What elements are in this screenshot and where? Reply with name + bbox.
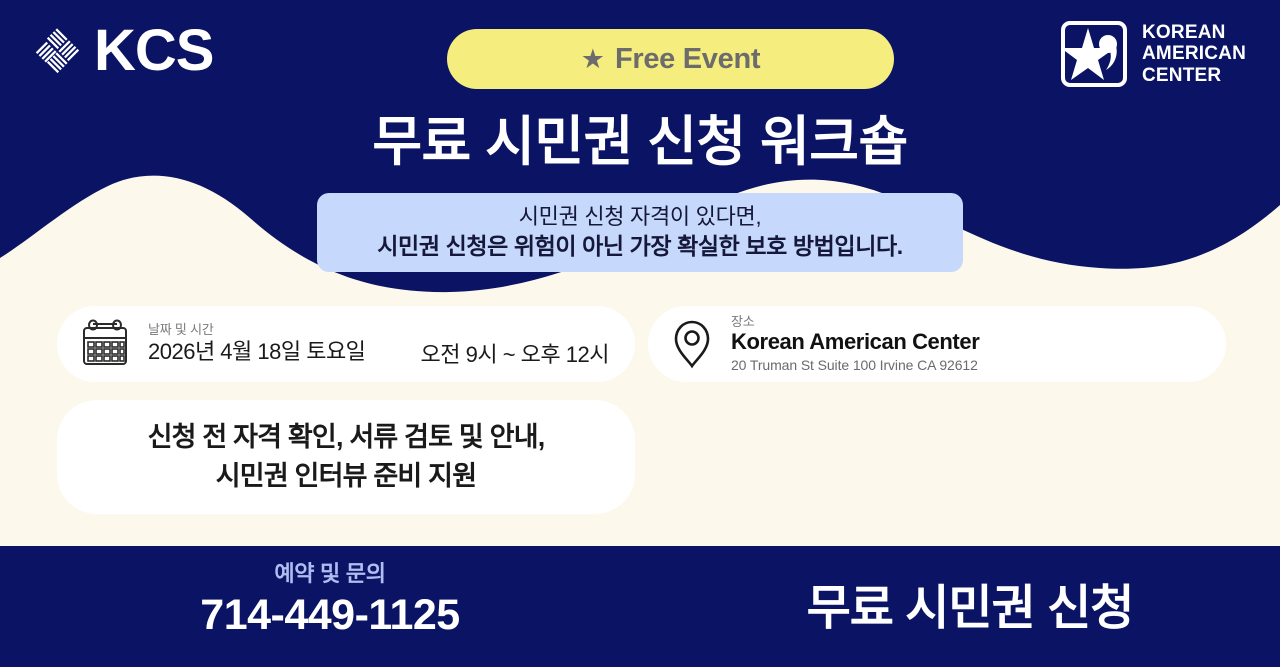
- time-value: 오전 9시 ~ 오후 12시: [421, 337, 609, 382]
- subtitle-line-1: 시민권 신청 자격이 있다면,: [519, 203, 762, 232]
- woven-diamond-icon: [34, 28, 80, 74]
- free-event-badge[interactable]: ★ Free Event: [447, 29, 894, 89]
- location-text: 장소 Korean American Center 20 Truman St S…: [731, 314, 979, 375]
- flyer-canvas: KCS ★ Free Event KOREAN AMERICAN CENTER …: [0, 0, 1280, 667]
- location-card: 장소 Korean American Center 20 Truman St S…: [648, 306, 1226, 382]
- footer-cta-block: 무료 시민권 신청: [660, 546, 1280, 667]
- kac-line-2: AMERICAN: [1142, 43, 1246, 64]
- date-value: 2026년 4월 18일 토요일: [148, 338, 365, 366]
- star-swoosh-icon: [1058, 18, 1130, 90]
- date-time-card: 날짜 및 시간 2026년 4월 18일 토요일 오전 9시 ~ 오후 12시: [57, 306, 635, 382]
- footer-contact-label: 예약 및 문의: [0, 560, 660, 589]
- footer: 예약 및 문의 714-449-1125 무료 시민권 신청: [0, 546, 1280, 667]
- services-card: 신청 전 자격 확인, 서류 검토 및 안내, 시민권 인터뷰 준비 지원: [57, 400, 635, 514]
- date-time-label: 날짜 및 시간: [148, 322, 365, 338]
- kac-line-1: KOREAN: [1142, 22, 1246, 43]
- location-label: 장소: [731, 314, 979, 330]
- map-pin-icon: [668, 318, 716, 370]
- free-event-label: Free Event: [615, 43, 760, 76]
- page-title: 무료 시민권 신청 워크숍: [0, 112, 1280, 172]
- kcs-wordmark: KCS: [94, 22, 213, 80]
- footer-contact-block: 예약 및 문의 714-449-1125: [0, 546, 660, 667]
- calendar-icon: [79, 318, 131, 370]
- korean-american-center-logo: KOREAN AMERICAN CENTER: [1058, 18, 1246, 90]
- kcs-logo: KCS: [34, 22, 213, 80]
- star-icon: ★: [581, 46, 605, 73]
- subtitle-box: 시민권 신청 자격이 있다면, 시민권 신청은 위험이 아닌 가장 확실한 보호…: [317, 193, 963, 272]
- services-line-1: 신청 전 자격 확인, 서류 검토 및 안내,: [148, 418, 545, 457]
- date-time-text: 날짜 및 시간 2026년 4월 18일 토요일: [148, 322, 365, 365]
- header: KCS ★ Free Event KOREAN AMERICAN CENTER: [0, 0, 1280, 110]
- subtitle-line-2: 시민권 신청은 위험이 아닌 가장 확실한 보호 방법입니다.: [377, 231, 902, 262]
- footer-cta-text: 무료 시민권 신청: [807, 583, 1134, 636]
- location-address: 20 Truman St Suite 100 Irvine CA 92612: [731, 356, 979, 374]
- footer-phone-number[interactable]: 714-449-1125: [0, 591, 660, 640]
- korean-american-center-wordmark: KOREAN AMERICAN CENTER: [1142, 22, 1246, 86]
- location-name: Korean American Center: [731, 329, 979, 356]
- services-line-2: 시민권 인터뷰 준비 지원: [216, 457, 477, 496]
- kac-line-3: CENTER: [1142, 65, 1246, 86]
